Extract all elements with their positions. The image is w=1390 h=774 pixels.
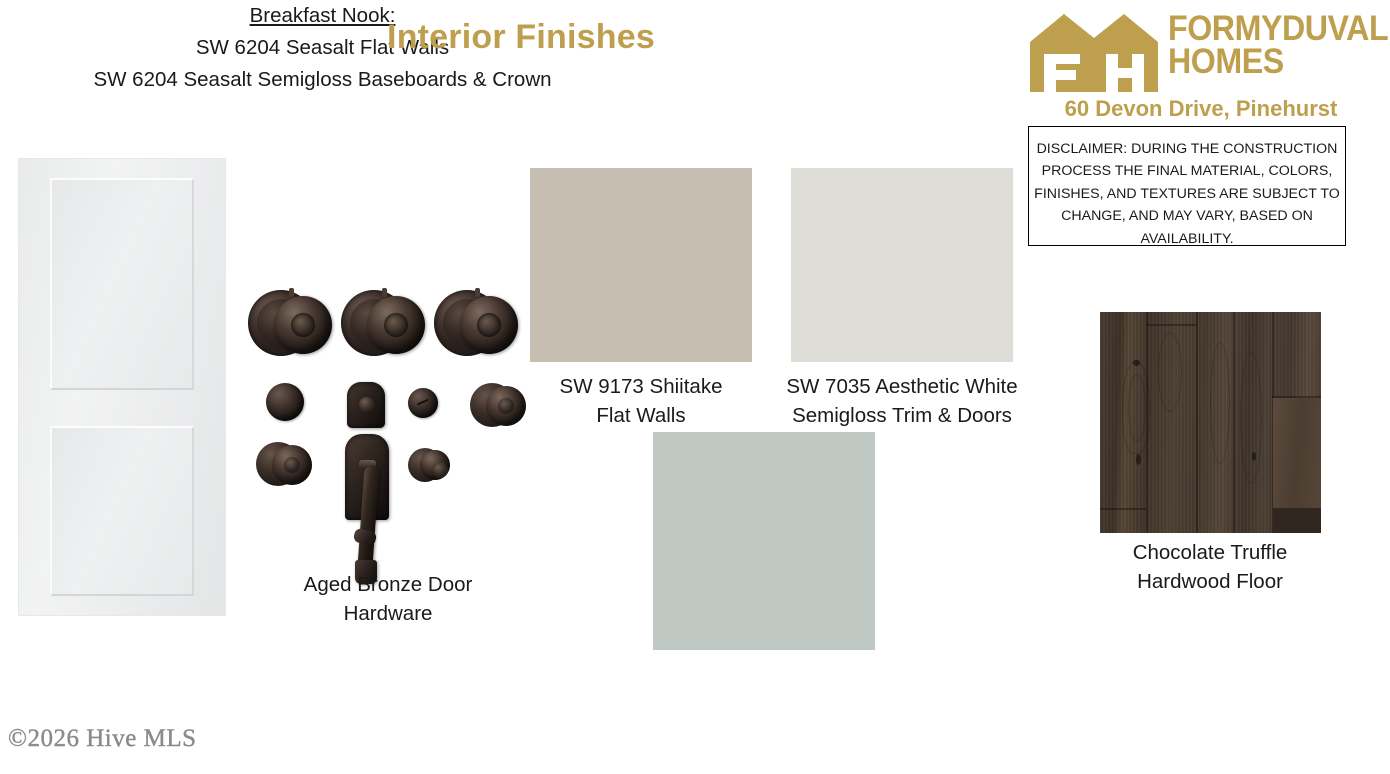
floor-caption-line2: Hardwood Floor — [1090, 567, 1330, 596]
paint-caption-shiitake-line1: SW 9173 Shiitake — [516, 372, 766, 401]
hardware-caption: Aged Bronze Door Hardware — [258, 570, 518, 628]
paint-caption-shiitake: SW 9173 Shiitake Flat Walls — [516, 372, 766, 430]
plank-seam — [1196, 312, 1198, 533]
interior-finishes-board: Interior Finishes FORMYDUVAL HOMES 60 De… — [0, 0, 1390, 774]
plank-seam — [1233, 312, 1235, 533]
hardware-caption-line1: Aged Bronze Door — [258, 570, 518, 599]
fh-house-logo-icon — [1028, 10, 1160, 92]
plank-seam — [1100, 508, 1146, 510]
paint-swatch-seasalt — [653, 432, 875, 650]
hardwood-floor-sample — [1100, 312, 1321, 533]
knob-ball — [460, 296, 518, 354]
knob-pin — [289, 288, 294, 297]
knob-pin — [475, 288, 480, 297]
door-knob-large-1 — [248, 288, 332, 360]
door-panel-bottom — [50, 426, 194, 596]
paint-caption-aesthetic-white-line2: Semigloss Trim & Doors — [762, 401, 1042, 430]
paint-caption-aesthetic-white: SW 7035 Aesthetic White Semigloss Trim &… — [762, 372, 1042, 430]
knob-ball — [272, 445, 312, 485]
deadbolt-plate-upper — [347, 382, 385, 428]
knob-ball — [367, 296, 425, 354]
paint-swatch-shiitake — [530, 168, 752, 362]
door-knob-large-3 — [434, 288, 518, 360]
wood-grain — [1210, 342, 1230, 464]
wood-knot — [1252, 452, 1256, 461]
plank-seam — [1146, 324, 1196, 326]
disclaimer-text: DISCLAIMER: DURING THE CONSTRUCTION PROC… — [1032, 138, 1342, 250]
plank-patch — [1273, 398, 1321, 508]
wood-grain — [1158, 332, 1182, 412]
paint-caption-seasalt-line2: SW 6204 Seasalt Semigloss Baseboards & C… — [0, 64, 645, 96]
page-title: Interior Finishes — [340, 18, 702, 57]
door-hardware-sample — [248, 288, 530, 560]
door-knob-small-center — [408, 446, 450, 484]
door-sample — [18, 158, 226, 616]
entry-handleset — [345, 434, 391, 584]
brand-block: FORMYDUVAL HOMES 60 Devon Drive, Pinehur… — [1028, 6, 1368, 126]
wood-knot — [1133, 360, 1140, 366]
plank-patch — [1273, 508, 1321, 533]
floor-caption: Chocolate Truffle Hardwood Floor — [1090, 538, 1330, 596]
knob-ball — [274, 296, 332, 354]
wood-grain — [1128, 374, 1146, 442]
wood-knot — [1136, 454, 1141, 465]
wood-grain — [1240, 352, 1262, 484]
knob-ball — [420, 450, 450, 480]
brand-wordmark: FORMYDUVAL HOMES — [1168, 12, 1368, 79]
paint-swatch-aesthetic-white — [791, 168, 1013, 362]
door-knob-small-left — [256, 440, 312, 488]
floor-caption-line1: Chocolate Truffle — [1090, 538, 1330, 567]
knob-pin — [382, 288, 387, 297]
door-knob-large-2 — [341, 288, 425, 360]
hardware-caption-line2: Hardware — [258, 599, 518, 628]
door-plug-left — [266, 383, 304, 421]
brand-wordmark-line2: HOMES — [1168, 45, 1352, 78]
brand-wordmark-line1: FORMYDUVAL — [1168, 12, 1352, 45]
door-panel-top — [50, 178, 194, 390]
brand-address: 60 Devon Drive, Pinehurst — [1034, 96, 1368, 122]
paint-caption-aesthetic-white-line1: SW 7035 Aesthetic White — [762, 372, 1042, 401]
mls-watermark: ©2026 Hive MLS — [8, 725, 197, 753]
door-plug-slotted — [408, 388, 438, 418]
paint-caption-shiitake-line2: Flat Walls — [516, 401, 766, 430]
